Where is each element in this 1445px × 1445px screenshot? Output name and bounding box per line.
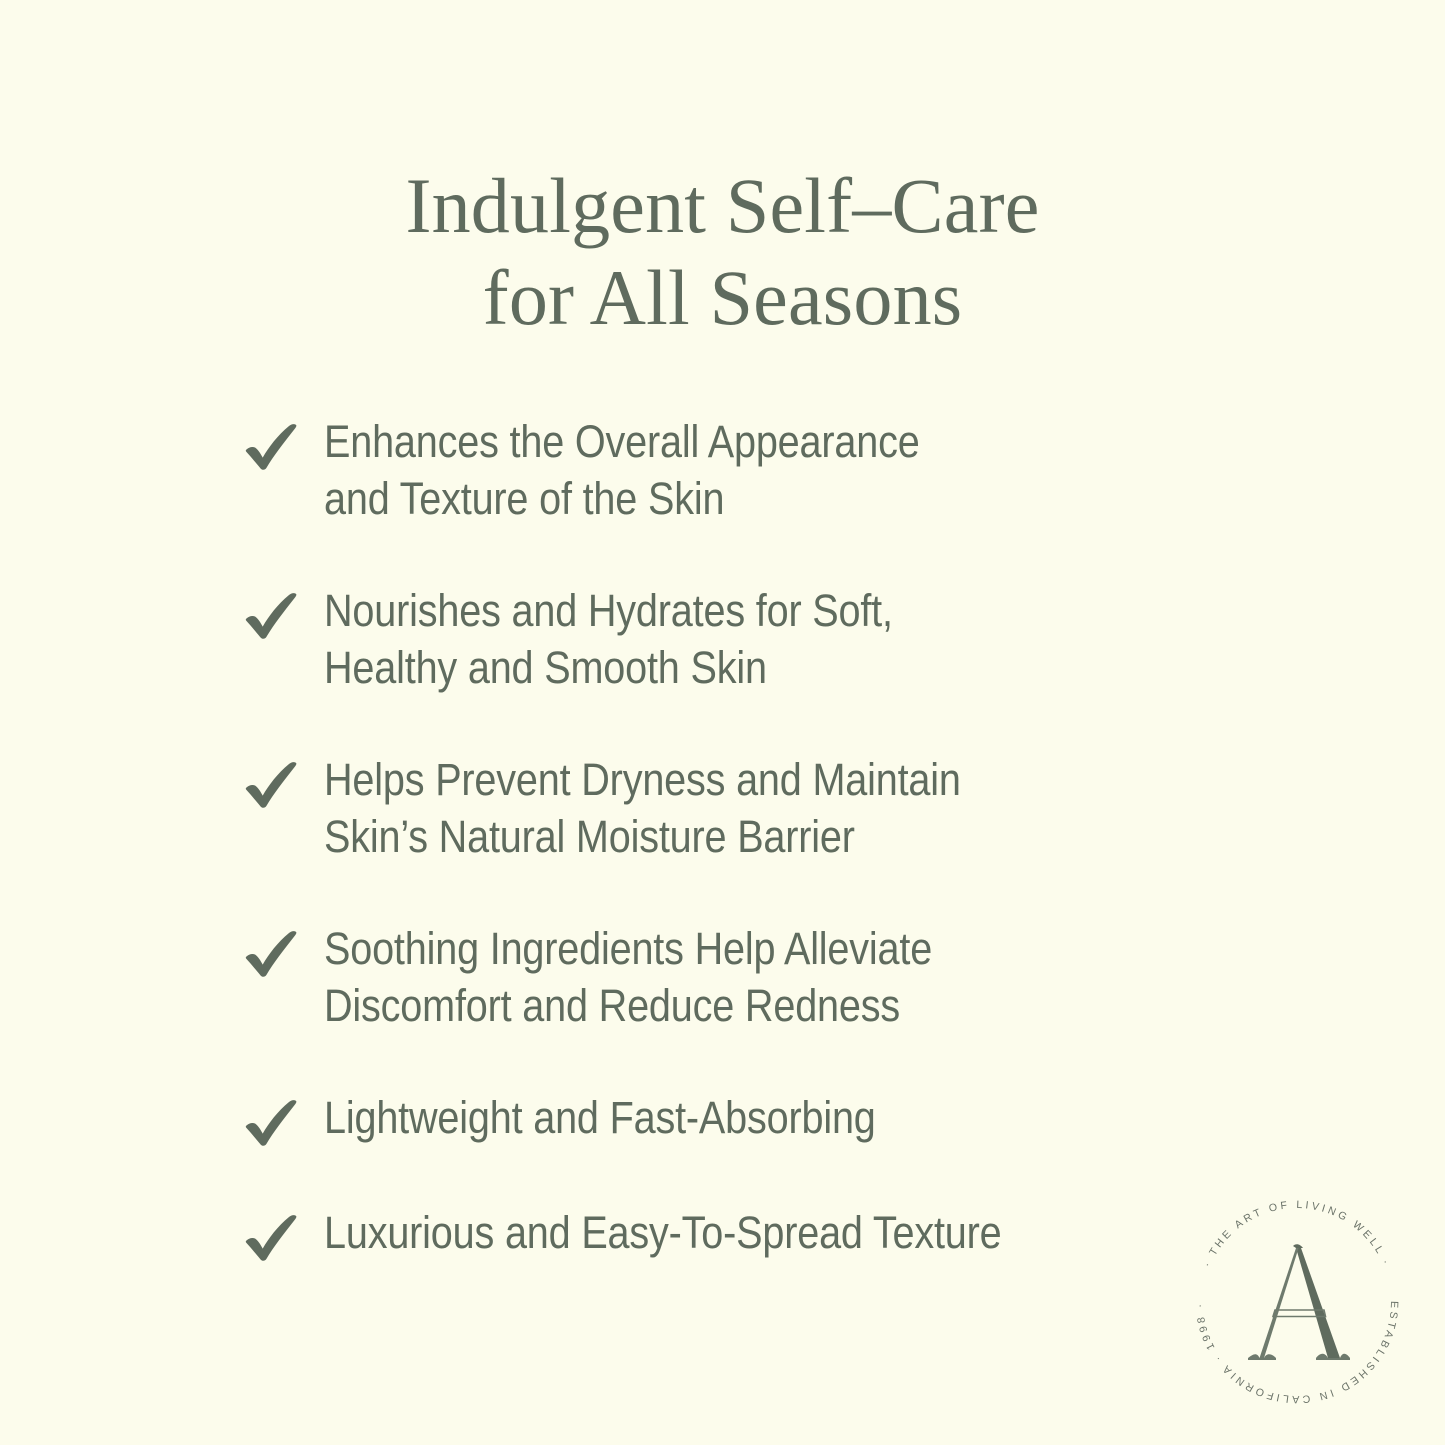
list-item-label: Helps Prevent Dryness and Maintain Skin’… (324, 751, 1077, 865)
check-icon (244, 1098, 300, 1148)
brand-seal-logo: · THE ART OF LIVING WELL · ESTABLISHED I… (1183, 1188, 1411, 1416)
seal-ring-text-top: · THE ART OF LIVING WELL · (1201, 1199, 1393, 1269)
check-icon (244, 929, 300, 979)
check-icon (244, 1213, 300, 1263)
check-icon (244, 591, 300, 641)
list-item: Helps Prevent Dryness and Maintain Skin’… (240, 751, 1180, 865)
poster-canvas: Indulgent Self–Care for All Seasons Enha… (0, 0, 1445, 1445)
list-item-label: Lightweight and Fast-Absorbing (324, 1089, 1077, 1146)
page-title-line-2: for All Seasons (0, 252, 1445, 344)
page-title: Indulgent Self–Care for All Seasons (0, 160, 1445, 344)
check-icon (244, 422, 300, 472)
list-item: Luxurious and Easy-To-Spread Texture (240, 1204, 1180, 1264)
benefits-list: Enhances the Overall Appearance and Text… (240, 413, 1180, 1264)
list-item-label: Soothing Ingredients Help Alleviate Disc… (324, 920, 1077, 1034)
list-item: Soothing Ingredients Help Alleviate Disc… (240, 920, 1180, 1034)
list-item: Nourishes and Hydrates for Soft, Healthy… (240, 582, 1180, 696)
list-item-label: Luxurious and Easy-To-Spread Texture (324, 1204, 1077, 1261)
page-title-line-1: Indulgent Self–Care (0, 160, 1445, 252)
list-item: Lightweight and Fast-Absorbing (240, 1089, 1180, 1149)
list-item-label: Nourishes and Hydrates for Soft, Healthy… (324, 582, 1077, 696)
check-icon (244, 760, 300, 810)
seal-monogram-a (1248, 1244, 1350, 1360)
list-item: Enhances the Overall Appearance and Text… (240, 413, 1180, 527)
list-item-label: Enhances the Overall Appearance and Text… (324, 413, 1077, 527)
